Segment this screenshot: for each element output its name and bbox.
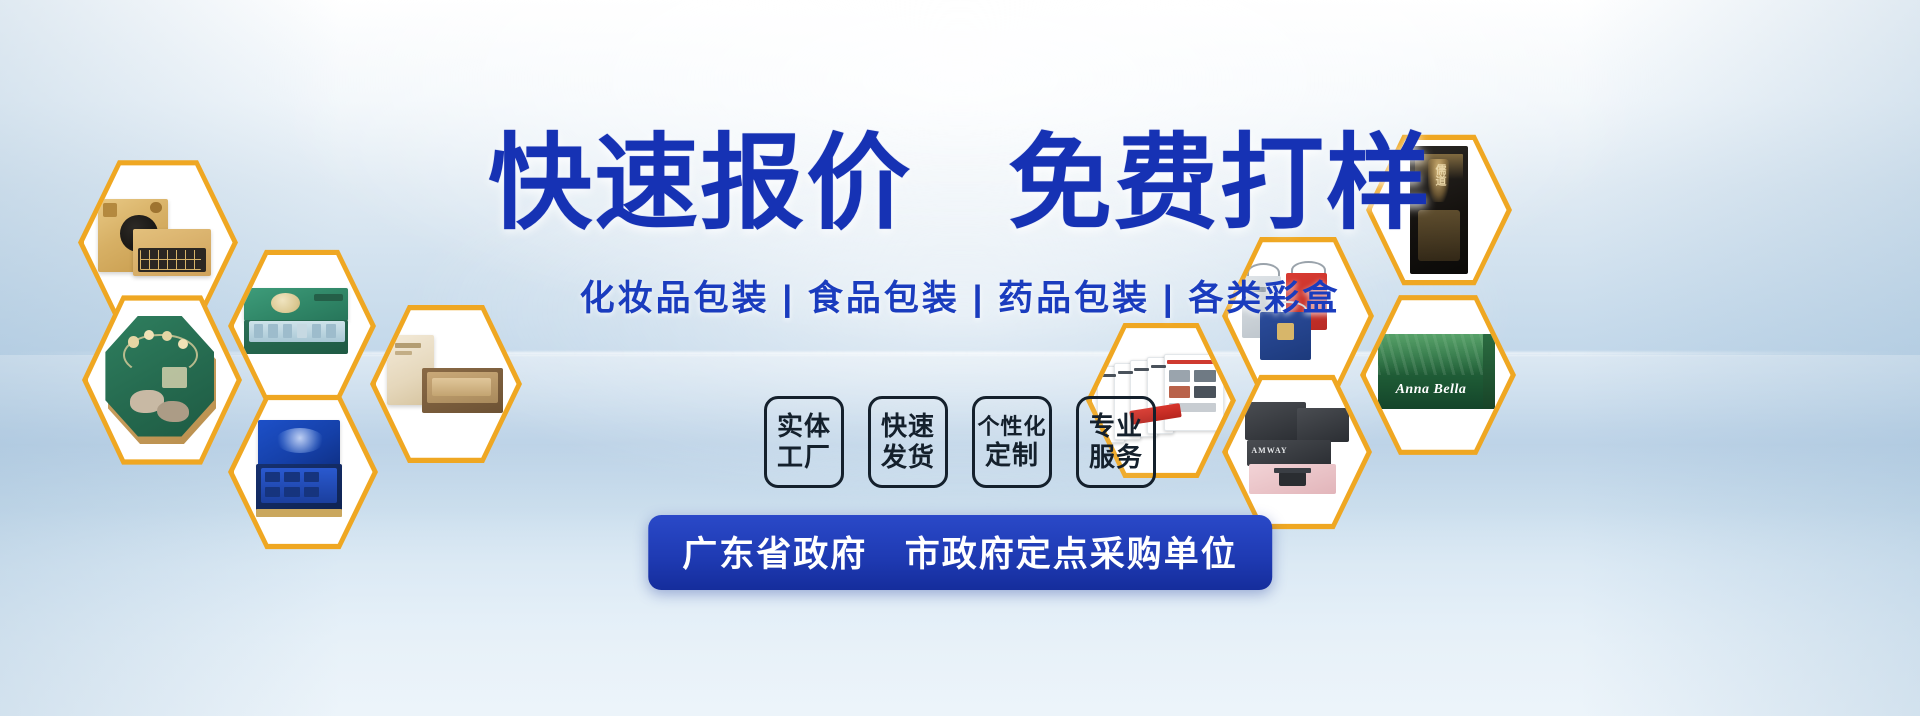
feature-badge-factory[interactable]: 实体 工厂	[764, 396, 844, 488]
banner-headline: 快速报价 免费打样	[0, 130, 1920, 238]
gov-badge-part-2: 市政府定点采购单位	[905, 535, 1238, 574]
hexagon-inner-frame	[234, 251, 371, 402]
dark-cosmetic-set-art: AMWAY	[1240, 402, 1354, 503]
headline-part-2: 免费打样	[1008, 126, 1432, 242]
blue-gift-box-art	[252, 420, 355, 524]
hexagon-inner-frame: AMWAY	[1228, 376, 1367, 529]
banner-subline: 化妆品包装 | 食品包装 | 药品包装 | 各类彩盒	[0, 276, 1920, 322]
feature-badge-list: 实体 工厂 快速 发货 个性化 定制 专业 服务	[764, 396, 1156, 488]
headline-part-1: 快速报价	[488, 126, 912, 242]
feature-badge-line1: 个性化	[977, 414, 1046, 440]
green-octagon-tin-art	[105, 316, 218, 444]
hexagon-inner-frame	[234, 396, 373, 549]
gov-badge-part-1: 广东省政府	[682, 535, 867, 574]
feature-badge-customization[interactable]: 个性化 定制	[972, 396, 1052, 488]
right-vignette	[1580, 0, 1920, 716]
feature-badge-line1: 专业	[1089, 411, 1143, 442]
feature-badge-line1: 快速	[881, 411, 935, 442]
anna-bella-label: Anna Bella	[1396, 382, 1467, 398]
feature-badge-line1: 实体	[777, 411, 831, 442]
feature-badge-line2: 发货	[881, 442, 935, 473]
feature-badge-line2: 服务	[1089, 442, 1143, 473]
government-supplier-badge[interactable]: 广东省政府 市政府定点采购单位	[648, 515, 1272, 590]
promo-banner: 儒道 AMWAY Anna Bella	[0, 0, 1920, 716]
anna-bella-box-art: Anna Bella	[1376, 330, 1501, 419]
hexagon-inner-frame	[376, 306, 517, 463]
feature-badge-professional-service[interactable]: 专业 服务	[1076, 396, 1156, 488]
feature-badge-line2: 定制	[985, 440, 1039, 471]
cosmetic-box-label: AMWAY	[1251, 446, 1287, 455]
kraft-wine-box-art	[387, 335, 505, 432]
feature-badge-line2: 工厂	[777, 442, 831, 473]
feature-badge-fast-shipping[interactable]: 快速 发货	[868, 396, 948, 488]
